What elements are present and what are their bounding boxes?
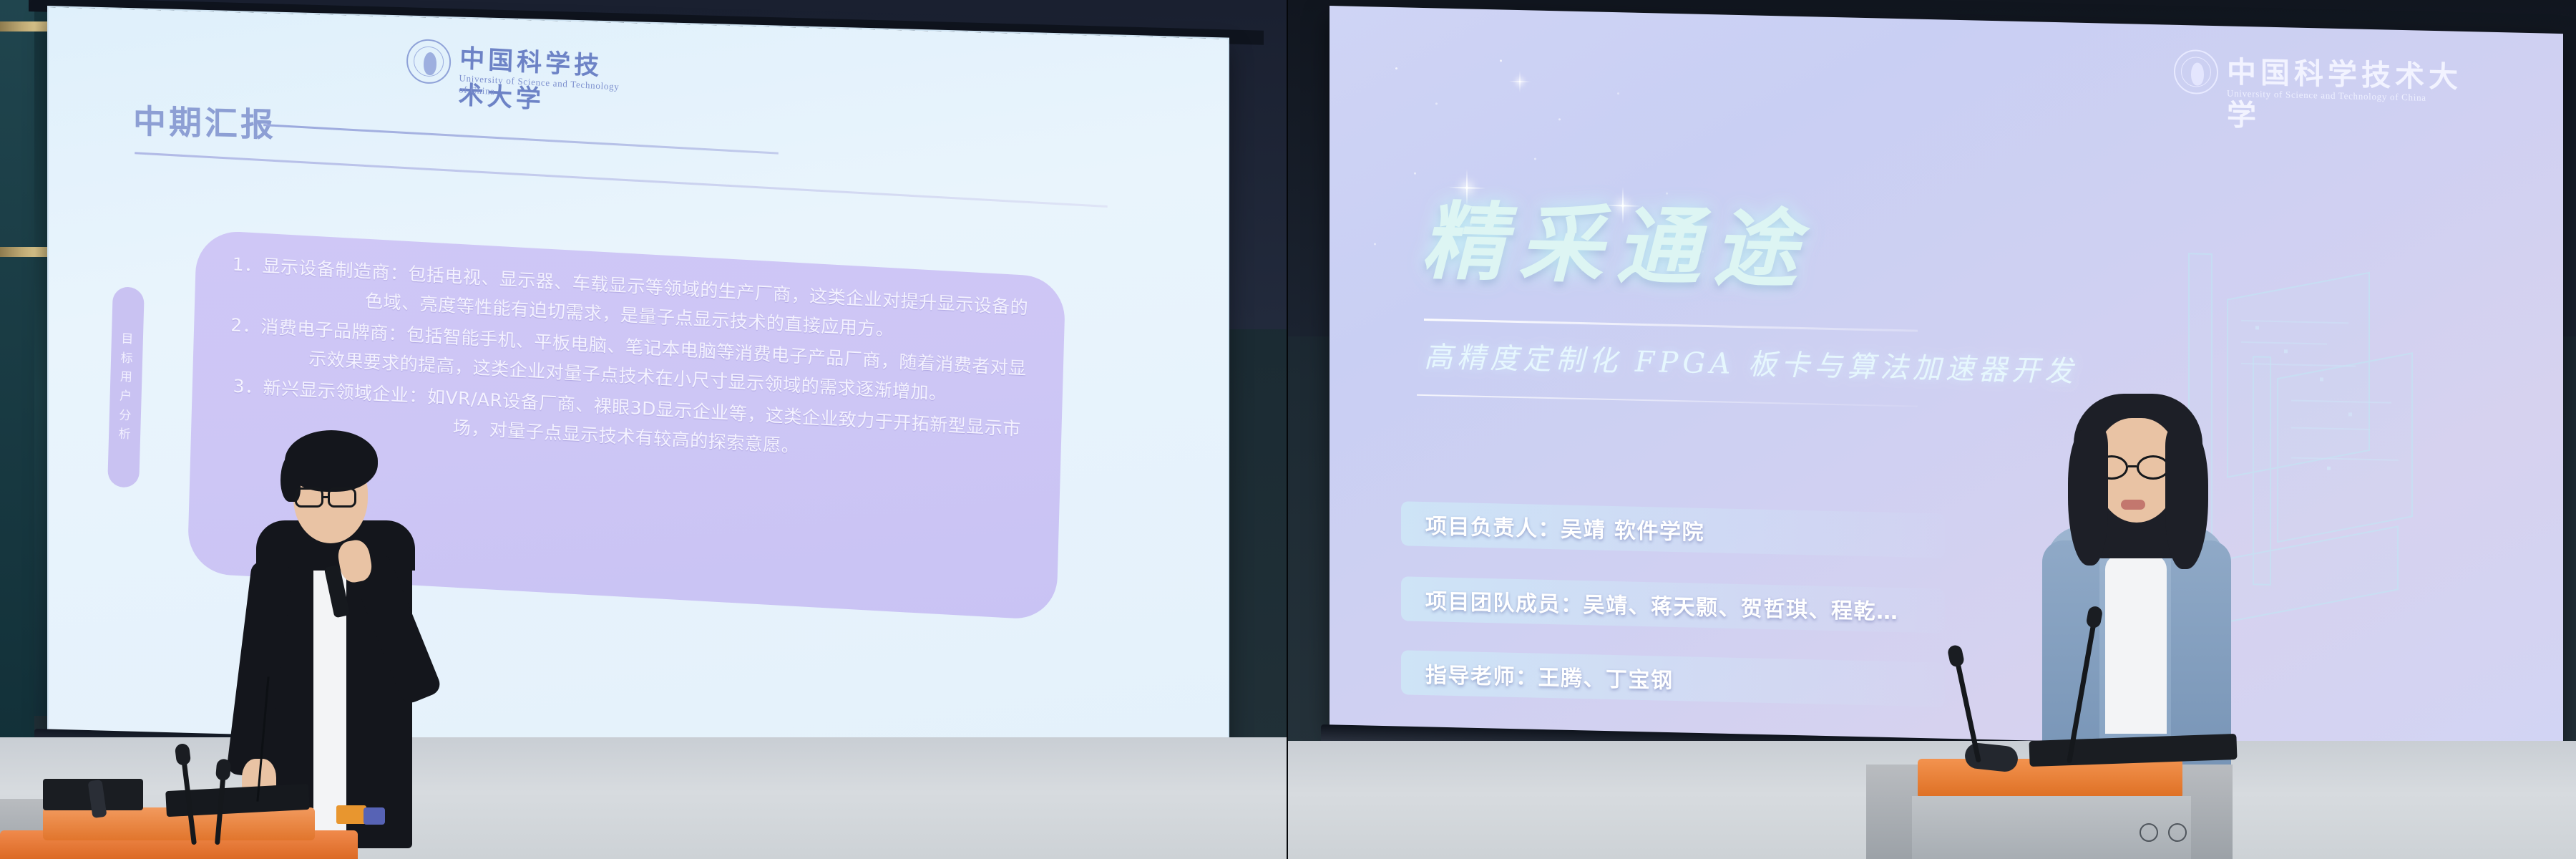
- side-tab-char-4: 分: [119, 409, 132, 423]
- side-tab-target-user-analysis: 目 标 用 户 分 析: [107, 286, 145, 488]
- info-row-advisors: 指导老师：王腾、丁宝钢: [1401, 650, 1945, 707]
- slide-subtitle: 高精度定制化 FPGA 板卡与算法加速器开发: [1424, 334, 2077, 390]
- slide-main-title: 精采通途: [1421, 173, 1810, 304]
- side-tab-char-0: 目: [121, 332, 134, 346]
- two-photo-composite: 中国科学技术大学 University of Science and Techn…: [0, 0, 2576, 859]
- ustc-logo-right: 中国科学技术大学 University of Science and Techn…: [2174, 45, 2474, 117]
- info-row-text: 指导老师：王腾、丁宝钢: [1425, 657, 1674, 694]
- slide-header-title: 中期汇报: [133, 95, 276, 146]
- side-tab-char-3: 户: [119, 389, 132, 404]
- presenter-hair-right: [2165, 429, 2208, 569]
- slide-left: 中国科学技术大学 University of Science and Techn…: [49, 7, 1228, 762]
- header-rule-top: [263, 124, 779, 155]
- presenter-mouth: [2121, 500, 2145, 510]
- info-row-project-leader: 项目负责人：吴靖 软件学院: [1401, 501, 1945, 558]
- right-photo-panel: 中国科学技术大学 University of Science and Techn…: [1288, 0, 2576, 859]
- presenter-glasses-left-lens: [295, 487, 323, 508]
- side-tab-char-5: 析: [118, 428, 131, 442]
- presenter-glasses-bridge: [2128, 465, 2137, 467]
- info-row-text: 项目负责人：吴靖 软件学院: [1425, 508, 1704, 546]
- left-podium-orange-item: [336, 805, 366, 824]
- seal-inner-mark: [424, 52, 437, 76]
- presenter-white-tshirt: [2105, 555, 2167, 734]
- sparkle-icon: [1519, 81, 1521, 82]
- info-row-team-members: 项目团队成员：吴靖、蒋天颢、贺哲琪、程乾…: [1401, 576, 1945, 633]
- side-tab-char-1: 标: [120, 351, 133, 366]
- right-podium-knob2-icon[interactable]: [2168, 823, 2187, 842]
- left-podium-blue-item: [364, 807, 385, 825]
- left-side-wall-edge: [0, 0, 34, 759]
- presenter-glasses-right-lens: [328, 487, 356, 508]
- info-row-text: 项目团队成员：吴靖、蒋天颢、贺哲琪、程乾…: [1425, 583, 1899, 626]
- ustc-seal-icon: [2174, 49, 2218, 94]
- ustc-logo-left: 中国科学技术大学 University of Science and Techn…: [406, 34, 629, 102]
- projector-screen-right: 中国科学技术大学 University of Science and Techn…: [1330, 6, 2563, 757]
- presenter-hair-left: [2068, 429, 2108, 566]
- header-rule-bottom: [135, 152, 1108, 208]
- presenter-glasses-bridge: [323, 496, 329, 498]
- subtitle-underline: [1417, 394, 1918, 407]
- panel-divider: [1287, 0, 1288, 859]
- projector-screen-left: 中国科学技术大学 University of Science and Techn…: [49, 7, 1228, 762]
- title-underline: [1424, 319, 1918, 332]
- side-tab-char-2: 用: [120, 371, 133, 385]
- right-podium-knob-icon[interactable]: [2140, 823, 2158, 842]
- ustc-seal-icon: [406, 38, 452, 84]
- left-photo-panel: 中国科学技术大学 University of Science and Techn…: [0, 0, 1288, 859]
- seal-inner-mark: [2191, 62, 2204, 85]
